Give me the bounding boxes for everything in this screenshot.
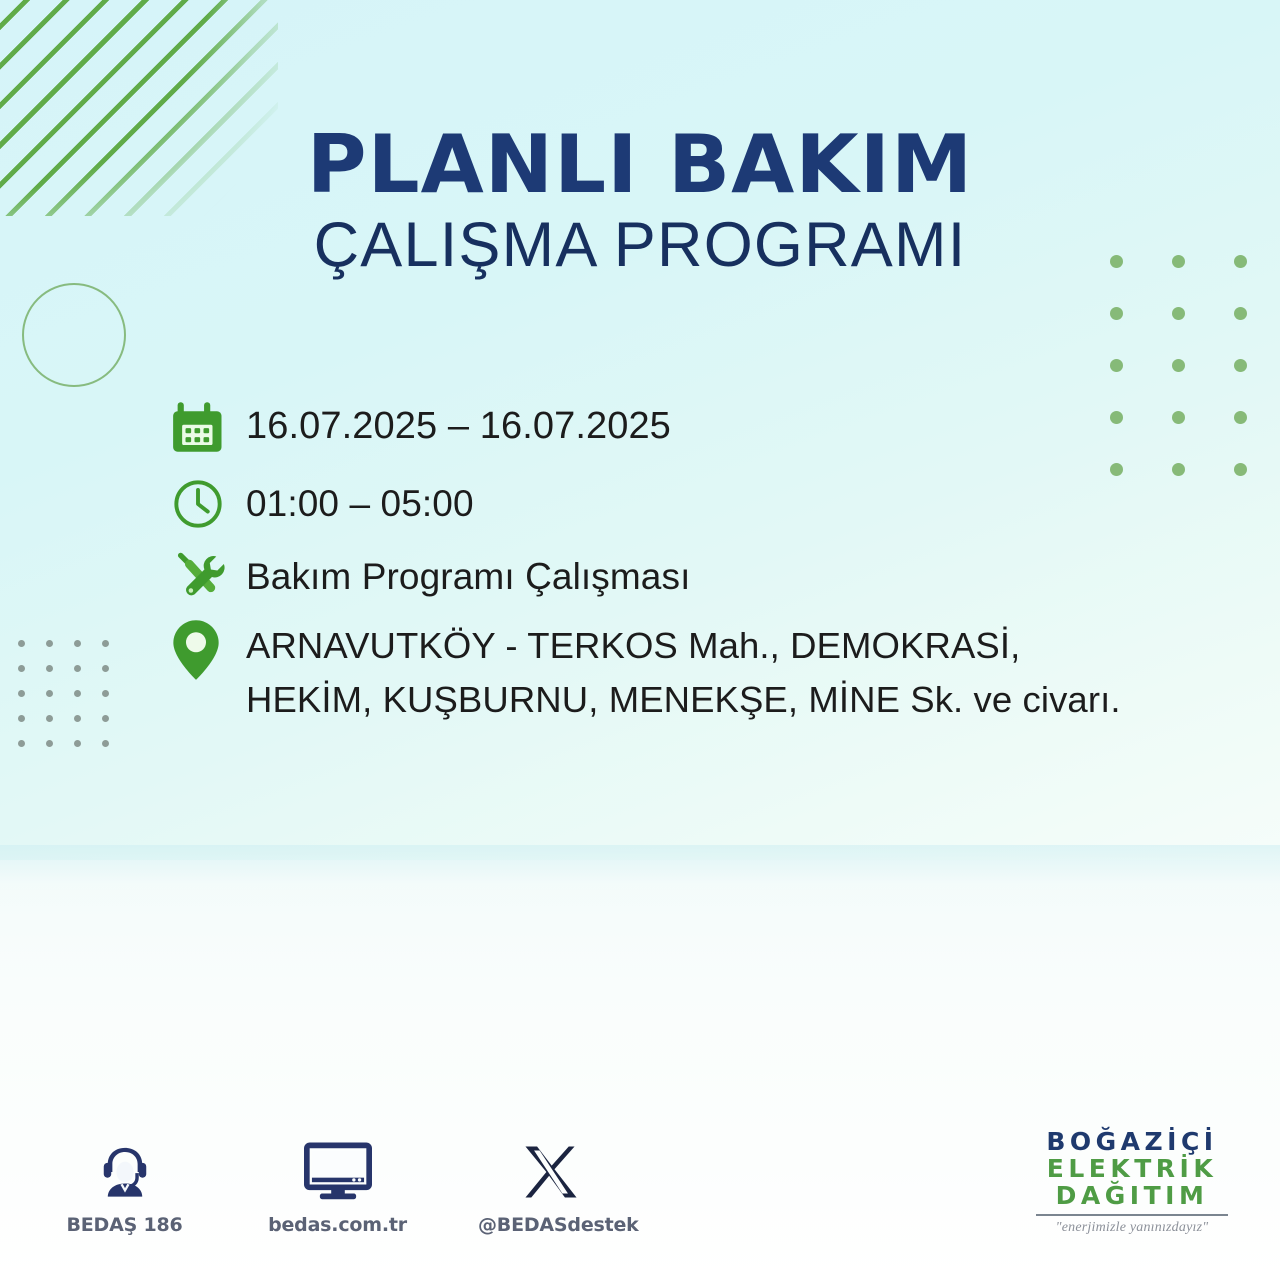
decorative-dot (74, 715, 81, 722)
brand-logo: BOĞAZİÇİ ELEKTRİK DAĞITIM "enerjimizle y… (1022, 1128, 1242, 1236)
decorative-dot (18, 690, 25, 697)
contact-phone[interactable]: BEDAŞ 186 (52, 1136, 197, 1236)
background-sheen (0, 845, 1280, 915)
decorative-dot (74, 690, 81, 697)
decorative-dot (1110, 307, 1123, 320)
x-twitter-icon (478, 1136, 623, 1208)
contact-phone-label: BEDAŞ 186 (52, 1214, 197, 1236)
brand-line-elektrik: ELEKTRİK (1022, 1155, 1242, 1182)
page-subtitle: ÇALIŞMA PROGRAMI (0, 212, 1280, 278)
decorative-dot (102, 715, 109, 722)
decorative-dot (74, 740, 81, 747)
detail-location-value: ARNAVUTKÖY - TERKOS Mah., DEMOKRASİ, HEK… (246, 617, 1121, 727)
decorative-dot (18, 740, 25, 747)
decorative-dot (1234, 359, 1247, 372)
contact-website[interactable]: bedas.com.tr (265, 1136, 410, 1236)
decorative-dot (1172, 307, 1185, 320)
decorative-dot (102, 740, 109, 747)
decorative-dot (18, 665, 25, 672)
decorative-dot (46, 740, 53, 747)
maintenance-details: 16.07.2025 – 16.07.2025 01:00 – 05:00 (172, 398, 1232, 749)
detail-location-line2: HEKİM, KUŞBURNU, MENEKŞE, MİNE Sk. ve ci… (246, 679, 1121, 720)
decorative-dot (1110, 359, 1123, 372)
decorative-dot (74, 665, 81, 672)
contact-x-label: @BEDASdestek (478, 1214, 623, 1236)
dot-grid-left-decoration (18, 640, 128, 750)
footer-contacts: BEDAŞ 186 bedas.com.tr (52, 1136, 623, 1236)
detail-work-value: Bakım Programı Çalışması (246, 549, 690, 604)
decorative-dot (1172, 359, 1185, 372)
map-pin-icon (172, 617, 246, 681)
decorative-dot (74, 640, 81, 647)
page-title: PLANLI BAKIM (0, 124, 1280, 206)
decorative-dot (1234, 307, 1247, 320)
decorative-dot (18, 640, 25, 647)
decorative-dot (46, 715, 53, 722)
page-title-block: PLANLI BAKIM ÇALIŞMA PROGRAMI (0, 124, 1280, 278)
detail-row-location: ARNAVUTKÖY - TERKOS Mah., DEMOKRASİ, HEK… (172, 617, 1232, 727)
decorative-dot (46, 640, 53, 647)
contact-x[interactable]: @BEDASdestek (478, 1136, 623, 1236)
decorative-dot (1234, 463, 1247, 476)
detail-time-value: 01:00 – 05:00 (246, 476, 474, 531)
detail-row-time: 01:00 – 05:00 (172, 476, 1232, 531)
detail-date-value: 16.07.2025 – 16.07.2025 (246, 398, 671, 454)
planned-maintenance-poster: PLANLI BAKIM ÇALIŞMA PROGRAMI (0, 0, 1280, 1280)
support-agent-icon (52, 1136, 197, 1208)
detail-row-work: Bakım Programı Çalışması (172, 549, 1232, 604)
clock-icon (172, 476, 246, 530)
detail-location-line1: ARNAVUTKÖY - TERKOS Mah., DEMOKRASİ, (246, 625, 1020, 666)
decorative-dot (102, 690, 109, 697)
decorative-dot (46, 690, 53, 697)
outline-circle-decoration (22, 283, 126, 387)
brand-tagline: "enerjimizle yanınızdayız" (1022, 1220, 1242, 1236)
contact-website-label: bedas.com.tr (265, 1214, 410, 1236)
calendar-icon (172, 398, 246, 454)
brand-line-dagitim: DAĞITIM (1022, 1182, 1242, 1209)
brand-line-bogazici: BOĞAZİÇİ (1022, 1128, 1242, 1155)
brand-divider (1036, 1214, 1228, 1216)
detail-row-date: 16.07.2025 – 16.07.2025 (172, 398, 1232, 454)
tools-icon (172, 549, 246, 603)
decorative-dot (1234, 411, 1247, 424)
decorative-dot (102, 665, 109, 672)
decorative-dot (18, 715, 25, 722)
monitor-icon (265, 1136, 410, 1208)
decorative-dot (102, 640, 109, 647)
decorative-dot (46, 665, 53, 672)
